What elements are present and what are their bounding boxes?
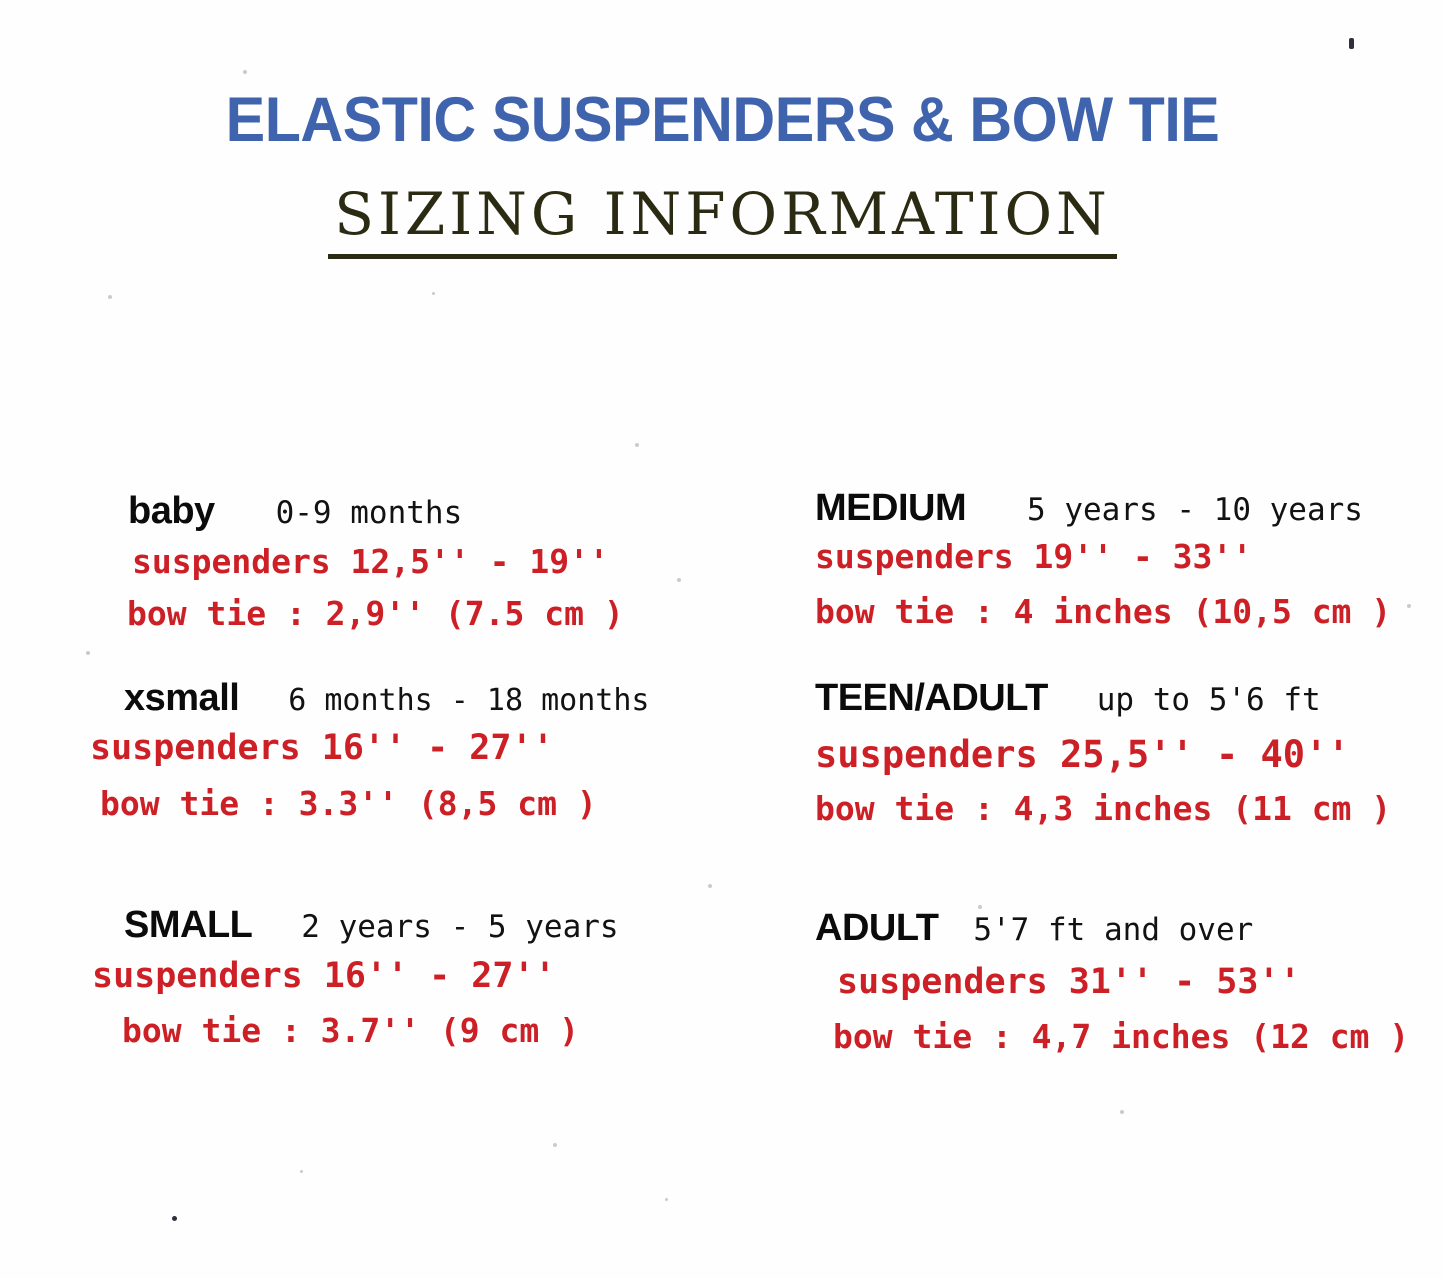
- size-bowtie-baby: bow tie : 2,9'' (7.5 cm ): [127, 597, 624, 630]
- size-bowtie-adult: bow tie : 4,7 inches (12 cm ): [833, 1020, 1409, 1053]
- size-bowtie-medium: bow tie : 4 inches (10,5 cm ): [815, 595, 1391, 628]
- sizing-chart-sheet: ELASTIC SUSPENDERS & BOW TIE SIZING INFO…: [0, 0, 1445, 1278]
- size-suspenders-baby: suspenders 12,5'' - 19'': [132, 545, 624, 578]
- size-age-baby: 0-9 months: [276, 495, 463, 531]
- size-age-teen-adult: up to 5'6 ft: [1097, 682, 1321, 718]
- size-block-teen-adult: TEEN/ADULT up to 5'6 ft suspenders 25,5'…: [815, 679, 1391, 825]
- size-block-adult: ADULT 5'7 ft and over suspenders 31'' - …: [815, 909, 1409, 1053]
- size-name-teen-adult: TEEN/ADULT: [815, 677, 1048, 719]
- scan-speck: [665, 1198, 668, 1201]
- size-name-small: SMALL: [124, 904, 252, 946]
- size-age-xsmall: 6 months - 18 months: [288, 683, 649, 718]
- size-bowtie-small: bow tie : 3.7'' (9 cm ): [122, 1014, 619, 1047]
- scan-speck: [1407, 604, 1411, 608]
- size-age-adult: 5'7 ft and over: [973, 912, 1253, 948]
- size-suspenders-teen-adult: suspenders 25,5'' - 40'': [815, 736, 1391, 773]
- size-name-baby: baby: [128, 490, 215, 532]
- scan-speck: [553, 1143, 557, 1147]
- size-name-xsmall: xsmall: [124, 677, 239, 719]
- scan-speck: [1349, 38, 1354, 49]
- size-header-teen-adult: TEEN/ADULT up to 5'6 ft: [815, 679, 1391, 717]
- size-suspenders-xsmall: suspenders 16'' - 27'': [90, 731, 649, 766]
- size-block-small: SMALL 2 years - 5 years suspenders 16'' …: [124, 906, 619, 1047]
- size-age-small: 2 years - 5 years: [301, 909, 618, 945]
- size-header-small: SMALL 2 years - 5 years: [124, 906, 619, 944]
- size-header-xsmall: xsmall 6 months - 18 months: [124, 679, 649, 717]
- scan-speck: [86, 651, 90, 655]
- scan-speck: [243, 70, 247, 74]
- size-suspenders-medium: suspenders 19'' - 33'': [815, 540, 1391, 573]
- size-name-adult: ADULT: [815, 907, 938, 949]
- size-block-xsmall: xsmall 6 months - 18 months suspenders 1…: [124, 679, 649, 820]
- size-header-medium: MEDIUM 5 years - 10 years: [815, 489, 1391, 527]
- scan-speck: [300, 1170, 303, 1173]
- size-block-medium: MEDIUM 5 years - 10 years suspenders 19'…: [815, 489, 1391, 628]
- size-header-baby: baby 0-9 months: [128, 492, 624, 530]
- page-subtitle-wrap: SIZING INFORMATION: [0, 180, 1445, 259]
- size-age-medium: 5 years - 10 years: [1027, 492, 1363, 528]
- scan-speck: [108, 295, 112, 299]
- size-bowtie-teen-adult: bow tie : 4,3 inches (11 cm ): [815, 792, 1391, 825]
- size-name-medium: MEDIUM: [815, 487, 966, 529]
- size-block-baby: baby 0-9 months suspenders 12,5'' - 19''…: [128, 492, 624, 630]
- scan-speck: [635, 443, 639, 447]
- scan-speck: [677, 578, 681, 582]
- size-suspenders-small: suspenders 16'' - 27'': [92, 959, 619, 994]
- scan-speck: [172, 1216, 177, 1221]
- page-title: ELASTIC SUSPENDERS & BOW TIE: [43, 84, 1401, 156]
- size-header-adult: ADULT 5'7 ft and over: [815, 909, 1409, 947]
- scan-speck: [432, 292, 435, 295]
- page-subtitle: SIZING INFORMATION: [328, 180, 1117, 259]
- scan-speck: [1120, 1110, 1124, 1114]
- size-suspenders-adult: suspenders 31'' - 53'': [837, 965, 1409, 1000]
- scan-speck: [708, 884, 712, 888]
- size-bowtie-xsmall: bow tie : 3.3'' (8,5 cm ): [100, 787, 649, 820]
